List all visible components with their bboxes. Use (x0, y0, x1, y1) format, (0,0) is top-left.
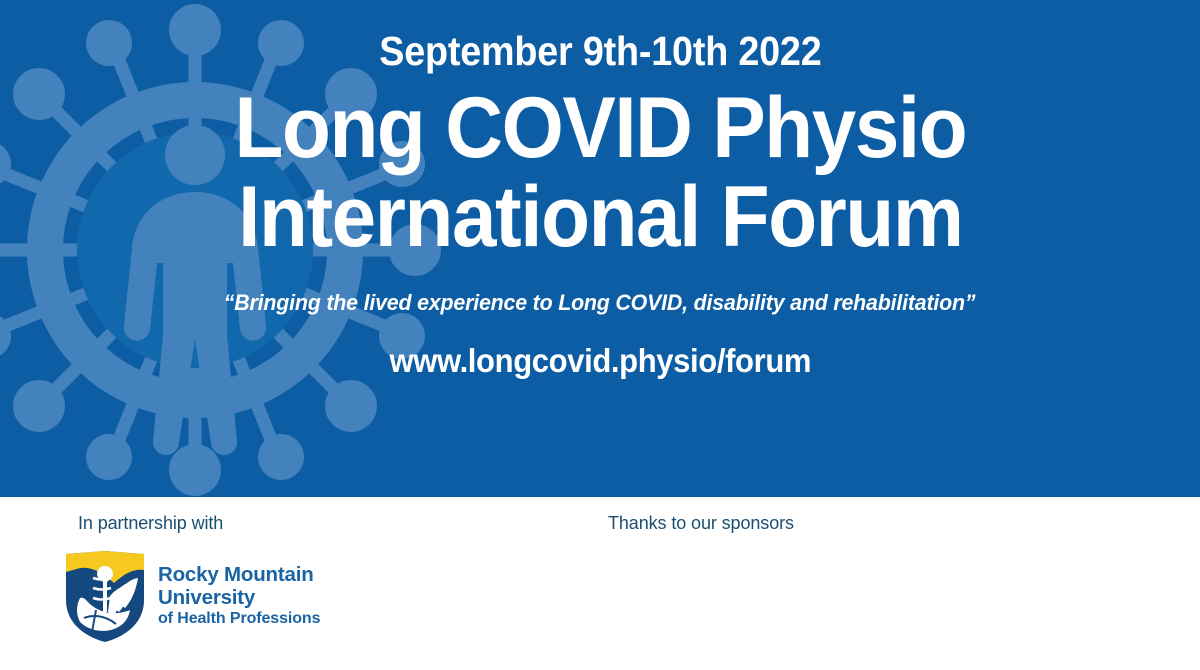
hero-section: September 9th-10th 2022 Long COVID Physi… (0, 0, 1200, 497)
rmu-line-3: of Health Professions (158, 610, 320, 628)
shield-caduceus-icon (62, 548, 148, 644)
rmu-wordmark: Rocky Mountain University of Health Prof… (158, 564, 320, 628)
sponsors-label: Thanks to our sponsors (608, 513, 794, 534)
partnership-label: In partnership with (78, 513, 223, 534)
logo-rocky-mountain-university[interactable]: Rocky Mountain University of Health Prof… (62, 548, 320, 644)
forum-promo-banner: September 9th-10th 2022 Long COVID Physi… (0, 0, 1200, 670)
footer-sponsor-band: In partnership with Thanks to our sponso… (0, 497, 1200, 670)
rmu-line-1: Rocky Mountain (158, 564, 320, 587)
coronavirus-with-person-icon (0, 0, 1200, 497)
rmu-line-2: University (158, 587, 320, 610)
